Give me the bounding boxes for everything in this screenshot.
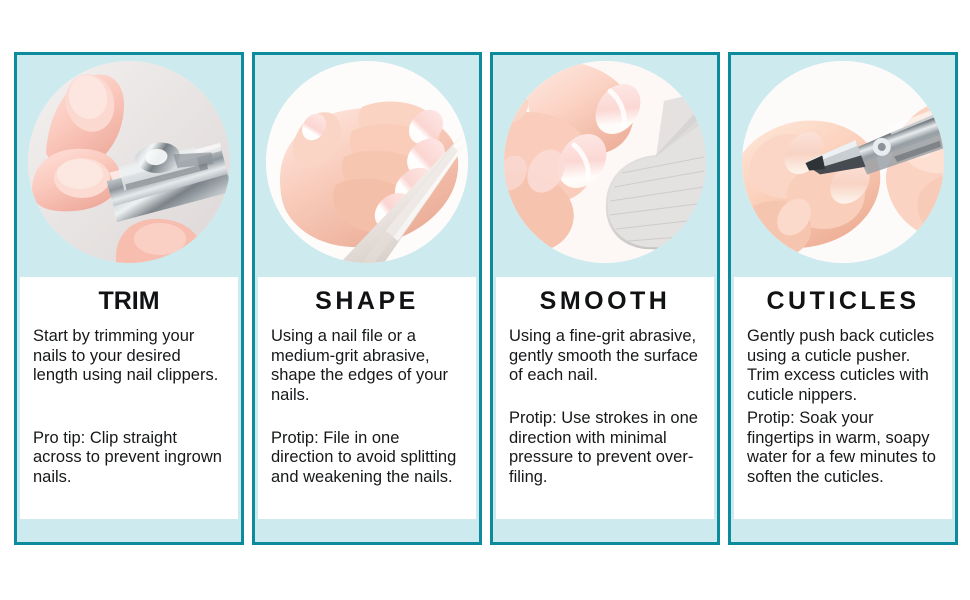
photo-area-trim xyxy=(17,55,241,277)
step-heading-shape: SHAPE xyxy=(268,288,466,314)
step-heading-cuticles: CUTICLES xyxy=(744,288,942,314)
step-panel-cuticles[interactable]: CUTICLES Gently push back cuticles using… xyxy=(728,52,958,545)
step-protip-shape: Protip: File in one direction to avoid s… xyxy=(268,429,466,510)
nail-care-infographic: TRIM Start by trimming your nails to you… xyxy=(0,0,970,600)
step-body-trim: Start by trimming your nails to your des… xyxy=(30,327,228,386)
step-panel-shape[interactable]: SHAPE Using a nail file or a medium-grit… xyxy=(252,52,482,545)
photo-hand-with-nail-file xyxy=(266,61,468,263)
photo-hand-with-nail-clippers xyxy=(28,61,230,263)
photo-area-cuticles xyxy=(731,55,955,277)
text-card-shape: SHAPE Using a nail file or a medium-grit… xyxy=(258,277,476,519)
steps-panel-row: TRIM Start by trimming your nails to you… xyxy=(14,52,958,545)
step-heading-trim: TRIM xyxy=(30,288,228,314)
panel-bottom-band-shape xyxy=(255,519,479,542)
photo-fingers-with-emery-buffer xyxy=(504,61,706,263)
photo-area-shape xyxy=(255,55,479,277)
photo-hand-with-cuticle-nippers xyxy=(742,61,944,263)
photo-area-smooth xyxy=(493,55,717,277)
panel-bottom-band-cuticles xyxy=(731,519,955,542)
step-panel-smooth[interactable]: SMOOTH Using a fine-grit abrasive, gentl… xyxy=(490,52,720,545)
step-body-cuticles: Gently push back cuticles using a cuticl… xyxy=(744,327,942,405)
step-protip-trim: Pro tip: Clip straight across to prevent… xyxy=(30,429,228,510)
step-protip-cuticles: Protip: Soak your fingertips in warm, so… xyxy=(744,409,942,509)
step-body-shape: Using a nail file or a medium-grit abras… xyxy=(268,327,466,405)
text-card-cuticles: CUTICLES Gently push back cuticles using… xyxy=(734,277,952,519)
panel-bottom-band-trim xyxy=(17,519,241,542)
step-panel-trim[interactable]: TRIM Start by trimming your nails to you… xyxy=(14,52,244,545)
text-card-smooth: SMOOTH Using a fine-grit abrasive, gentl… xyxy=(496,277,714,519)
panel-bottom-band-smooth xyxy=(493,519,717,542)
step-heading-smooth: SMOOTH xyxy=(506,288,704,314)
step-protip-smooth: Protip: Use strokes in one direction wit… xyxy=(506,409,704,509)
step-body-smooth: Using a fine-grit abrasive, gently smoot… xyxy=(506,327,704,386)
text-card-trim: TRIM Start by trimming your nails to you… xyxy=(20,277,238,519)
